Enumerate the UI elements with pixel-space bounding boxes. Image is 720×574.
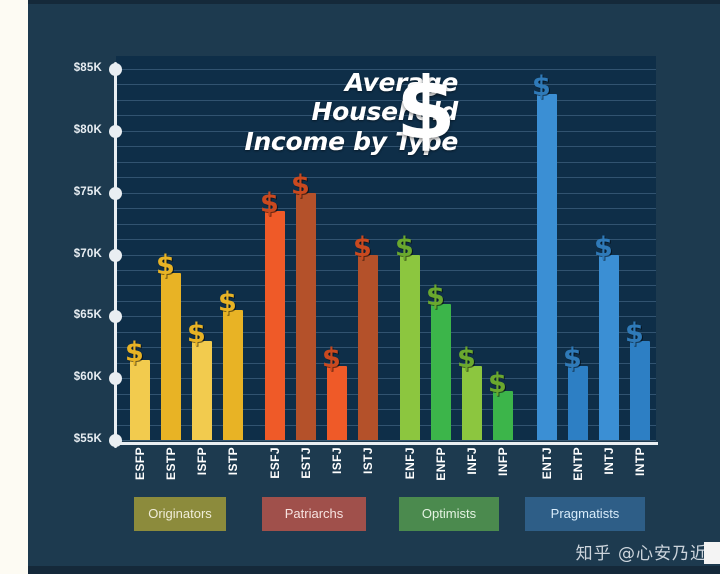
bar-label-enfp: ENFP	[434, 447, 448, 481]
y-axis-tick	[109, 434, 122, 447]
bar-dollar-icon: $	[218, 289, 237, 316]
y-axis-label: $70K	[40, 248, 102, 260]
bar-estp[interactable]: $	[161, 273, 181, 440]
bar-dollar-icon: $	[488, 370, 507, 397]
bar-label-intp: INTP	[633, 447, 647, 476]
infographic-poster: $85K$80K$75K$70K$65K$60K$55K Average Hou…	[28, 0, 720, 574]
poster-bottom-edge	[28, 566, 720, 574]
bar-isfp[interactable]: $	[192, 341, 212, 440]
gridline	[116, 177, 656, 178]
bar-label-estj: ESTJ	[299, 447, 313, 479]
bar-dollar-icon: $	[156, 252, 175, 279]
y-axis-tick	[109, 63, 122, 76]
gridline	[116, 301, 656, 302]
bar-label-isfp: ISFP	[195, 447, 209, 475]
gridline	[116, 162, 656, 163]
bar-label-estp: ESTP	[164, 447, 178, 480]
gridline	[116, 224, 656, 225]
bar-dollar-icon: $	[187, 320, 206, 347]
bar-dollar-icon: $	[125, 339, 144, 366]
bar-dollar-icon: $	[426, 283, 445, 310]
group-chip-originators[interactable]: Originators	[134, 497, 226, 531]
bar-label-infj: INFJ	[465, 447, 479, 475]
gridline	[116, 255, 656, 256]
y-axis-tick	[109, 249, 122, 262]
bar-intp[interactable]: $	[630, 341, 650, 440]
bar-dollar-icon: $	[563, 345, 582, 372]
bar-label-esfp: ESFP	[133, 447, 147, 480]
group-chip-pragmatists[interactable]: Pragmatists	[525, 497, 645, 531]
bar-esfj[interactable]: $	[265, 211, 285, 440]
watermark: 知乎 @心安乃近	[576, 539, 708, 564]
bar-dollar-icon: $	[594, 234, 613, 261]
gridline	[116, 239, 656, 240]
group-chip-patriarchs[interactable]: Patriarchs	[262, 497, 366, 531]
gridline	[116, 285, 656, 286]
x-axis-line	[114, 442, 658, 445]
y-axis-label: $55K	[40, 433, 102, 445]
bar-label-entp: ENTP	[571, 447, 585, 481]
bar-intj[interactable]: $	[599, 255, 619, 441]
bar-label-enfj: ENFJ	[403, 447, 417, 479]
bar-dollar-icon: $	[395, 234, 414, 261]
bar-dollar-icon: $	[291, 172, 310, 199]
poster-top-edge	[28, 0, 720, 4]
bar-dollar-icon: $	[353, 234, 372, 261]
y-axis-labels: $85K$80K$75K$70K$65K$60K$55K	[40, 0, 102, 574]
bar-entp[interactable]: $	[568, 366, 588, 440]
bar-entj[interactable]: $	[537, 94, 557, 440]
y-axis-label: $65K	[40, 309, 102, 321]
page-margin	[0, 0, 28, 574]
bar-isfj[interactable]: $	[327, 366, 347, 440]
bar-istj[interactable]: $	[358, 255, 378, 441]
bar-istp[interactable]: $	[223, 310, 243, 440]
gridline	[116, 440, 656, 441]
bar-label-istj: ISTJ	[361, 447, 375, 474]
bar-enfj[interactable]: $	[400, 255, 420, 441]
bar-dollar-icon: $	[322, 345, 341, 372]
y-axis-tick	[109, 125, 122, 138]
y-axis-tick	[109, 187, 122, 200]
y-axis-label: $60K	[40, 371, 102, 383]
bar-esfp[interactable]: $	[130, 360, 150, 440]
bar-infp[interactable]: $	[493, 391, 513, 440]
bar-enfp[interactable]: $	[431, 304, 451, 440]
bar-estj[interactable]: $	[296, 193, 316, 440]
bar-dollar-icon: $	[260, 190, 279, 217]
y-axis-label: $80K	[40, 124, 102, 136]
bar-dollar-icon: $	[625, 320, 644, 347]
bar-label-istp: ISTP	[226, 447, 240, 475]
gridline	[116, 208, 656, 209]
y-axis-label: $85K	[40, 62, 102, 74]
gridline	[116, 193, 656, 194]
bar-dollar-icon: $	[457, 345, 476, 372]
bar-dollar-icon: $	[532, 73, 551, 100]
bar-label-infp: INFP	[496, 447, 510, 476]
watermark-badge	[704, 542, 720, 564]
group-chip-optimists[interactable]: Optimists	[399, 497, 499, 531]
bar-label-intj: INTJ	[602, 447, 616, 475]
gridline	[116, 270, 656, 271]
bar-label-entj: ENTJ	[540, 447, 554, 479]
bar-label-esfj: ESFJ	[268, 447, 282, 479]
bar-infj[interactable]: $	[462, 366, 482, 440]
y-axis-label: $75K	[40, 186, 102, 198]
bar-label-isfj: ISFJ	[330, 447, 344, 474]
dollar-sign-icon: $	[396, 66, 456, 152]
